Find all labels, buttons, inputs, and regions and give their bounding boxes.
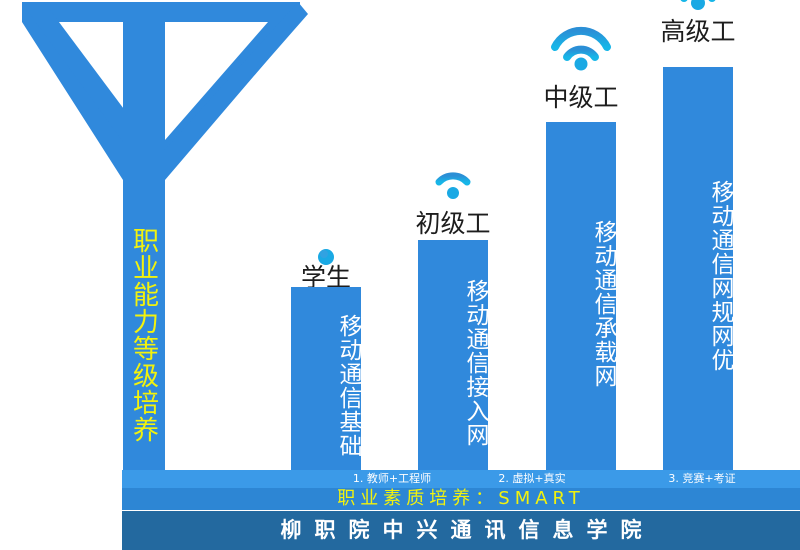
- footer-band: 柳职院中兴通讯信息学院: [122, 511, 800, 550]
- level-bar-student[interactable]: 移动通信基础: [291, 287, 361, 475]
- axis-caption-bar: 职业能力等级培养: [123, 190, 164, 475]
- level-title-junior: 初级工: [383, 209, 523, 239]
- wifi-1-bar-icon: [421, 162, 485, 202]
- level-bar-senior[interactable]: 移动通信网规网优: [663, 67, 733, 475]
- wifi-2-bar-icon: [543, 17, 619, 73]
- level-title-senior: 高级工: [628, 17, 768, 47]
- sublabel-3: 3. 竞赛+考证: [622, 470, 782, 488]
- diagram-canvas: 职业能力等级培养 学生 移动通信基础 初级工 移动通信接入网: [0, 0, 800, 550]
- axis-caption-text: 职业能力等级培养: [128, 227, 160, 443]
- wifi-3-bar-icon: [654, 0, 742, 10]
- sublabel-2: 2. 虚拟+真实: [452, 470, 612, 488]
- level-bar-intermediate[interactable]: 移动通信承载网: [546, 122, 616, 475]
- level-bar-junior[interactable]: 移动通信接入网: [418, 240, 488, 475]
- sublabel-band: 1. 教师+工程师 2. 虚拟+真实 3. 竞赛+考证: [122, 470, 800, 488]
- smart-band: 职业素质培养：SMART: [122, 488, 800, 510]
- level-title-intermediate: 中级工: [511, 83, 651, 113]
